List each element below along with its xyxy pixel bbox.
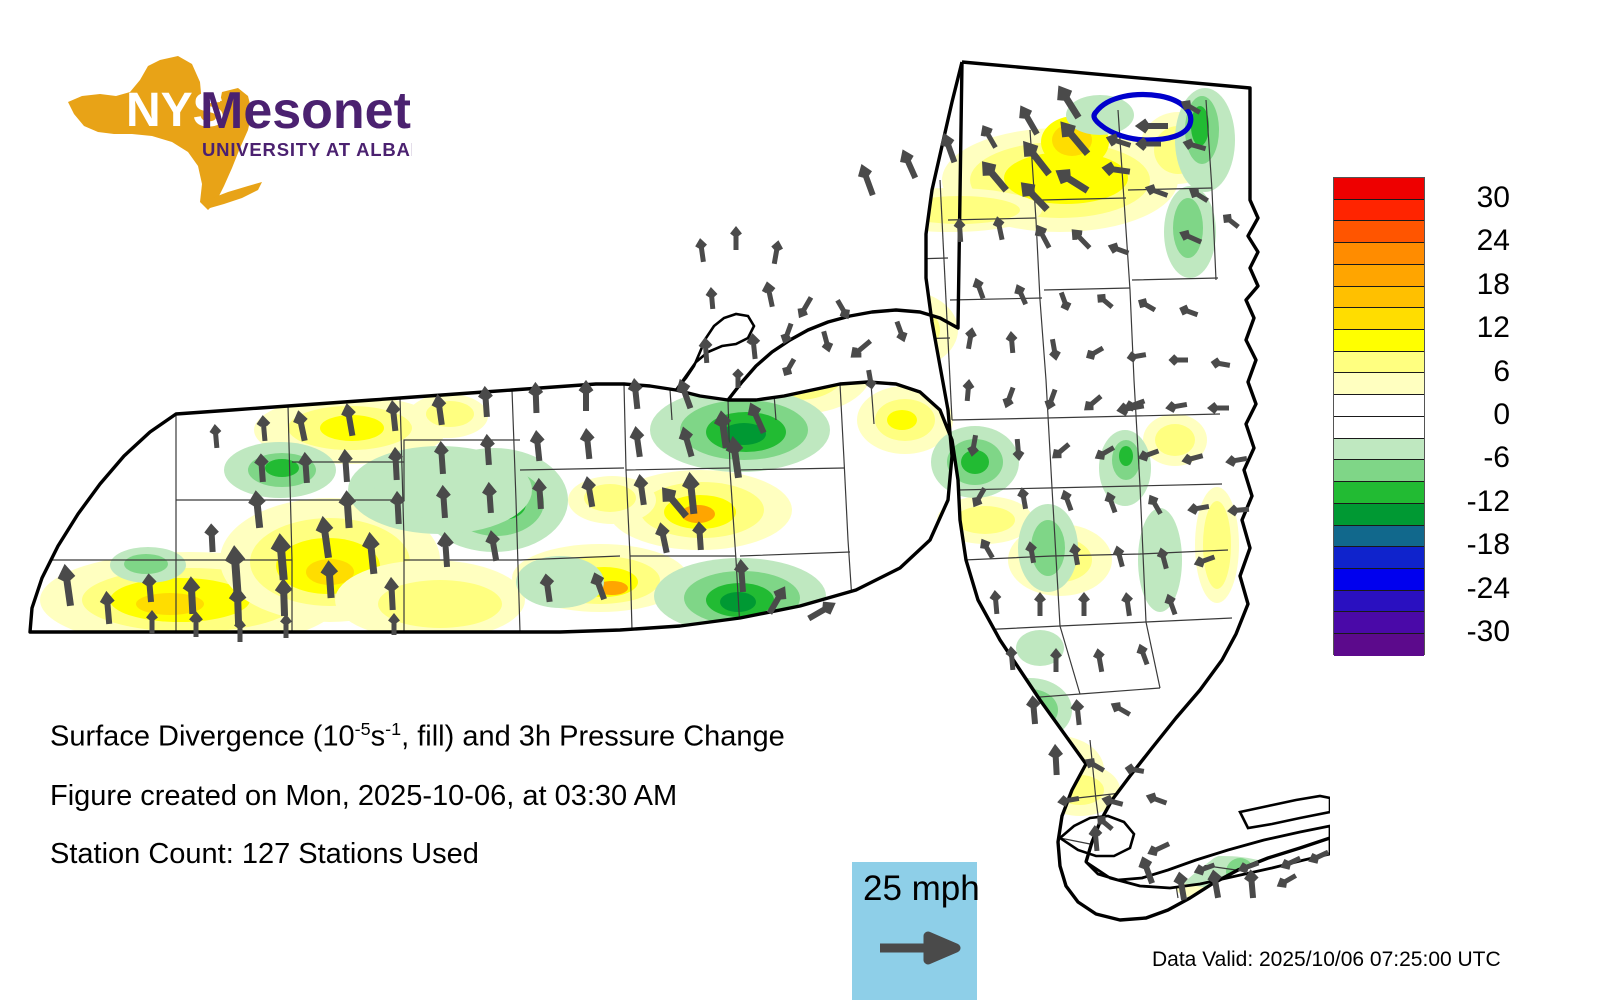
colorbar-band xyxy=(1334,634,1424,656)
colorbar-tick-label: 0 xyxy=(1432,400,1510,430)
caption-title: Surface Divergence (10-5s-1, fill) and 3… xyxy=(50,720,950,754)
colorbar-band xyxy=(1334,265,1424,287)
colorbar-tick-label: 30 xyxy=(1432,183,1510,213)
colorbar-tick-label: -24 xyxy=(1432,574,1510,604)
caption-station-count: Station Count: 127 Stations Used xyxy=(50,839,950,871)
colorbar-tick-label: -18 xyxy=(1432,530,1510,560)
colorbar-band xyxy=(1334,330,1424,352)
caption-title-prefix: Surface Divergence (10 xyxy=(50,721,355,753)
colorbar-tick-label: -6 xyxy=(1432,443,1510,473)
colorbar-band xyxy=(1334,417,1424,439)
colorbar-band xyxy=(1334,612,1424,634)
caption-title-mid: s xyxy=(371,721,386,753)
colorbar-band xyxy=(1334,482,1424,504)
caption-exp-2: -1 xyxy=(385,719,401,739)
colorbar-band xyxy=(1334,200,1424,222)
figure-root: NYS Mesonet UNIVERSITY AT ALBANY xyxy=(0,0,1600,1000)
colorbar-band xyxy=(1334,308,1424,330)
colorbar-tick-labels: 3024181260-6-12-18-24-30 xyxy=(1432,177,1542,655)
colorbar-band xyxy=(1334,243,1424,265)
divergence-colorbar xyxy=(1333,177,1425,655)
colorbar-tick-label: 24 xyxy=(1432,226,1510,256)
colorbar-band xyxy=(1334,547,1424,569)
wind-legend-arrow-icon xyxy=(880,930,962,966)
colorbar-band xyxy=(1334,591,1424,613)
caption-exp-1: -5 xyxy=(355,719,371,739)
colorbar-band xyxy=(1334,395,1424,417)
colorbar-band xyxy=(1334,287,1424,309)
caption-block: Surface Divergence (10-5s-1, fill) and 3… xyxy=(50,720,950,898)
colorbar-tick-label: 6 xyxy=(1432,357,1510,387)
colorbar-band xyxy=(1334,526,1424,548)
colorbar-tick-label: 18 xyxy=(1432,270,1510,300)
colorbar-band xyxy=(1334,352,1424,374)
colorbar-band xyxy=(1334,460,1424,482)
colorbar-band xyxy=(1334,439,1424,461)
caption-title-suffix: , fill) and 3h Pressure Change xyxy=(401,721,785,753)
wind-scale-legend: 25 mph xyxy=(852,862,977,1000)
data-valid-timestamp: Data Valid: 2025/10/06 07:25:00 UTC xyxy=(1152,948,1501,972)
caption-created: Figure created on Mon, 2025-10-06, at 03… xyxy=(50,781,950,813)
wind-legend-label: 25 mph xyxy=(863,869,980,909)
colorbar-band xyxy=(1334,504,1424,526)
colorbar-tick-label: -30 xyxy=(1432,617,1510,647)
colorbar-tick-label: -12 xyxy=(1432,487,1510,517)
colorbar-band xyxy=(1334,221,1424,243)
colorbar-tick-label: 12 xyxy=(1432,313,1510,343)
colorbar-band xyxy=(1334,569,1424,591)
colorbar-band xyxy=(1334,373,1424,395)
colorbar-band xyxy=(1334,178,1424,200)
